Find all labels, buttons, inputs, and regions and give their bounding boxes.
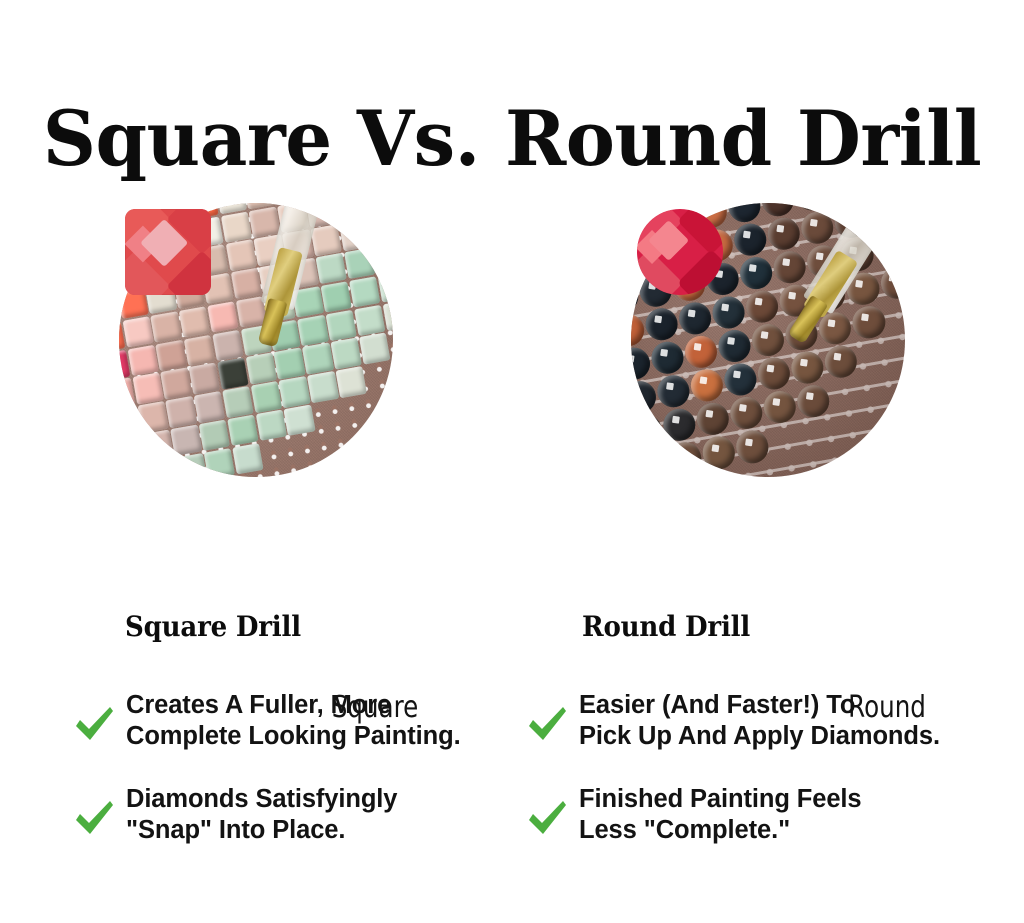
list-item-text: Easier (And Faster!) To Pick Up And Appl… — [579, 690, 940, 752]
heading-square-drill: Square Drill — [125, 610, 301, 643]
check-icon — [525, 702, 569, 746]
list-item: Creates A Fuller, More Complete Looking … — [72, 690, 542, 752]
check-icon — [72, 796, 116, 840]
column-round: Round Round Drill Easier (And Faster!) T… — [512, 0, 1024, 923]
list-item-text: Finished Painting Feels Less "Complete." — [579, 784, 862, 846]
bullet-list-round: Easier (And Faster!) To Pick Up And Appl… — [525, 690, 995, 878]
list-item: Finished Painting Feels Less "Complete." — [525, 784, 995, 846]
comparison-columns: Square Square Drill Creates A Fuller, Mo… — [0, 0, 1024, 923]
list-item-text: Diamonds Satisfyingly "Snap" Into Place. — [126, 784, 397, 846]
pen-tip — [258, 298, 288, 347]
photo-round-drill: Round — [631, 203, 905, 477]
column-square: Square Square Drill Creates A Fuller, Mo… — [0, 0, 512, 923]
list-item-text: Creates A Fuller, More Complete Looking … — [126, 690, 461, 752]
bullet-list-square: Creates A Fuller, More Complete Looking … — [72, 690, 542, 878]
list-item: Easier (And Faster!) To Pick Up And Appl… — [525, 690, 995, 752]
gem-square-drill — [125, 209, 211, 295]
check-icon — [525, 796, 569, 840]
gem-round-drill — [637, 209, 723, 295]
photo-square-drill: Square — [119, 203, 393, 477]
list-item: Diamonds Satisfyingly "Snap" Into Place. — [72, 784, 542, 846]
check-icon — [72, 702, 116, 746]
heading-round-drill: Round Drill — [582, 610, 750, 643]
